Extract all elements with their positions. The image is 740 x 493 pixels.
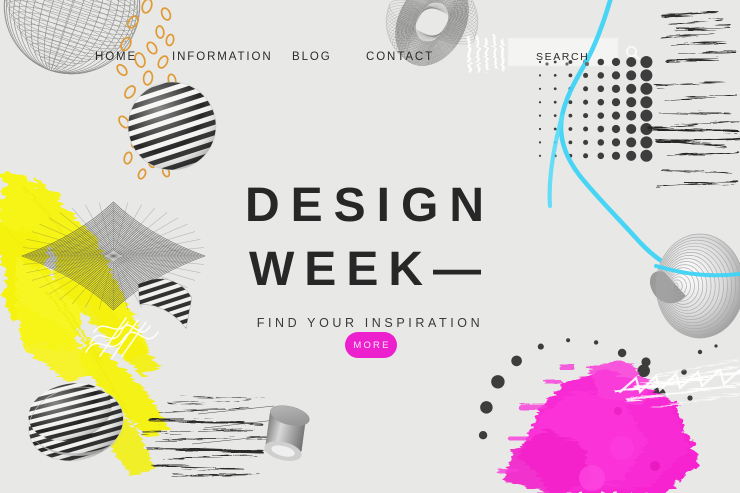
ui-layer: HOME INFORMATION BLOG CONTACT SEARCH DES… [0,0,740,493]
hero-headline-line2: WEEK— [0,246,740,294]
hero-headline-line1: DESIGN [0,182,740,230]
nav-item-blog[interactable]: BLOG [292,51,332,63]
more-button[interactable]: MORE [345,332,397,358]
hero-block: DESIGN WEEK— FIND YOUR INSPIRATION [0,182,740,330]
nav-item-search[interactable]: SEARCH [536,51,589,63]
page-canvas: HOME INFORMATION BLOG CONTACT SEARCH DES… [0,0,740,493]
search-icon[interactable] [624,44,642,62]
nav-item-contact[interactable]: CONTACT [366,51,434,63]
nav-item-home[interactable]: HOME [95,51,137,63]
hero-subtitle: FIND YOUR INSPIRATION [0,316,740,330]
nav-item-information[interactable]: INFORMATION [172,51,273,63]
